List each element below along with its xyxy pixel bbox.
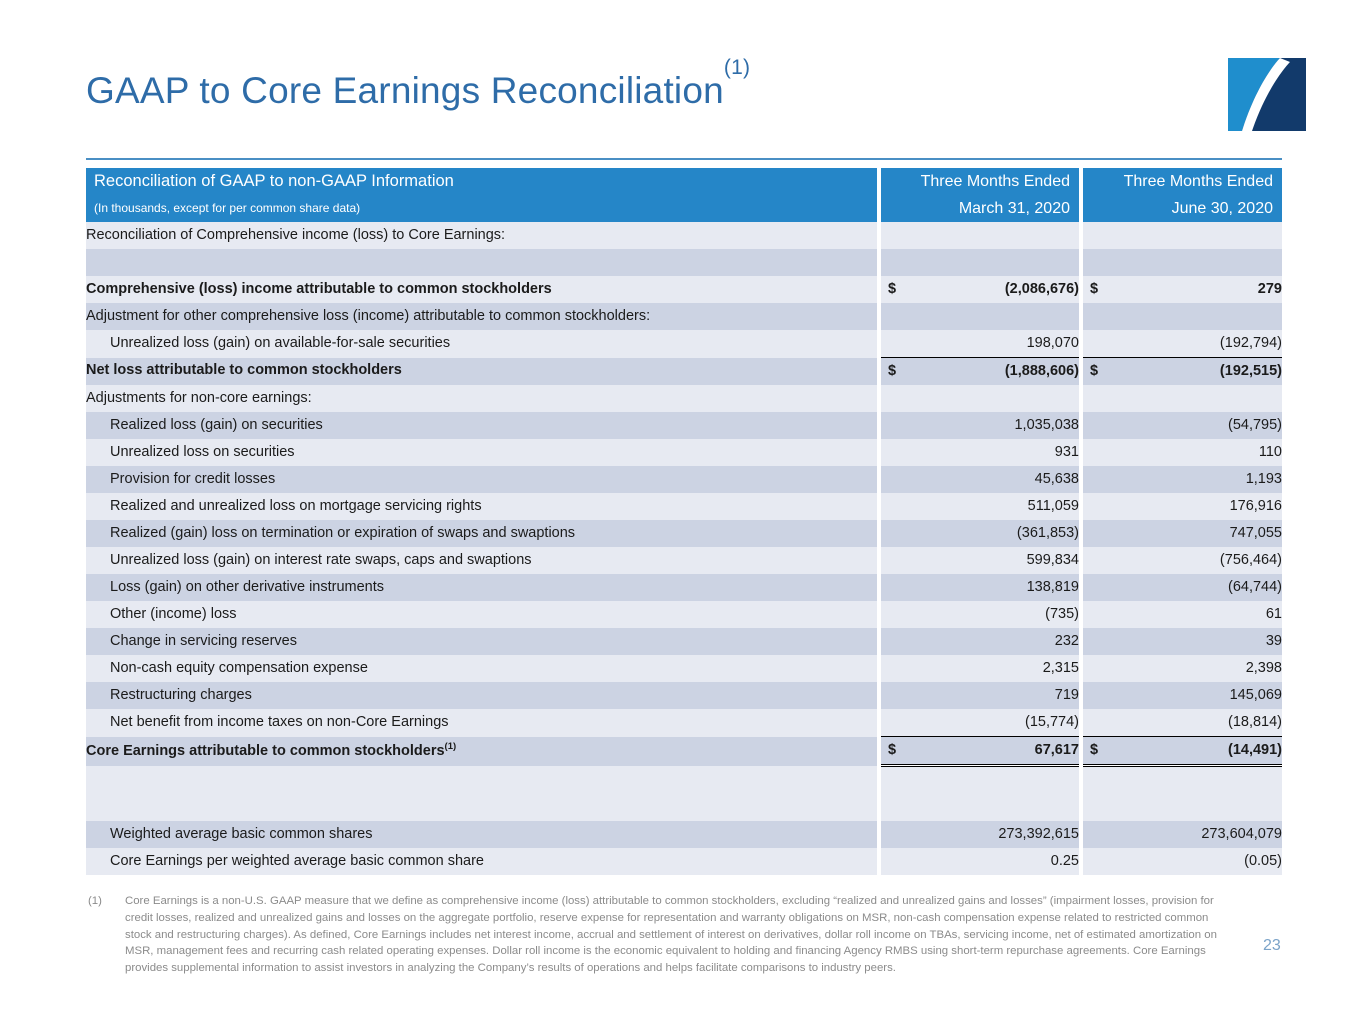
row-value-col2: (756,464)	[1083, 547, 1282, 574]
table-row: Realized loss (gain) on securities1,035,…	[86, 412, 1282, 439]
value-text: 2,315	[1043, 660, 1079, 676]
currency-symbol: $	[1090, 743, 1098, 759]
currency-symbol: $	[888, 282, 896, 298]
table-header-row-2: (In thousands, except for per common sha…	[86, 195, 1282, 222]
page-number: 23	[1263, 937, 1281, 955]
row-value-col1: 273,392,615	[881, 821, 1079, 848]
page-title: GAAP to Core Earnings Reconciliation(1)	[86, 70, 750, 112]
row-label	[86, 794, 877, 821]
table-header-row-1: Reconciliation of GAAP to non-GAAP Infor…	[86, 168, 1282, 195]
row-value-col1: $67,617	[881, 737, 1079, 766]
row-value-col1: (15,774)	[881, 709, 1079, 737]
table-row: Restructuring charges719145,069	[86, 682, 1282, 709]
row-label	[86, 249, 877, 276]
row-label: Unrealized loss (gain) on interest rate …	[86, 547, 877, 574]
row-value-col2: (64,744)	[1083, 574, 1282, 601]
row-label: Other (income) loss	[86, 601, 877, 628]
table-row: Other (income) loss(735)61	[86, 601, 1282, 628]
value-text: 145,069	[1230, 687, 1282, 703]
value-text: (18,814)	[1228, 714, 1282, 730]
row-value-col1: $(2,086,676)	[881, 276, 1079, 303]
table-row	[86, 766, 1282, 795]
currency-symbol: $	[1090, 282, 1098, 298]
row-label: Adjustment for other comprehensive loss …	[86, 303, 877, 330]
value-text: (192,794)	[1220, 335, 1282, 351]
row-value-col1: 138,819	[881, 574, 1079, 601]
row-label: Weighted average basic common shares	[86, 821, 877, 848]
row-label: Non-cash equity compensation expense	[86, 655, 877, 682]
table-row: Provision for credit losses45,6381,193	[86, 466, 1282, 493]
row-label: Realized loss (gain) on securities	[86, 412, 877, 439]
table-row: Comprehensive (loss) income attributable…	[86, 276, 1282, 303]
row-value-col2: 2,398	[1083, 655, 1282, 682]
value-text: 39	[1266, 633, 1282, 649]
row-value-col1: (735)	[881, 601, 1079, 628]
row-value-col2: 61	[1083, 601, 1282, 628]
reconciliation-table-container: Reconciliation of GAAP to non-GAAP Infor…	[86, 168, 1282, 875]
value-text: 599,834	[1027, 552, 1079, 568]
table-row: Core Earnings per weighted average basic…	[86, 848, 1282, 875]
row-value-col1: 232	[881, 628, 1079, 655]
table-header-units: (In thousands, except for per common sha…	[86, 195, 877, 222]
table-row: Weighted average basic common shares273,…	[86, 821, 1282, 848]
value-text: (361,853)	[1017, 525, 1079, 541]
currency-symbol: $	[888, 364, 896, 380]
value-text: (2,086,676)	[1005, 281, 1079, 297]
table-body: Reconciliation of GAAP to non-GAAP Infor…	[86, 168, 1282, 875]
table-row: Non-cash equity compensation expense2,31…	[86, 655, 1282, 682]
value-text: (0.05)	[1244, 853, 1282, 869]
table-row	[86, 794, 1282, 821]
value-text: 931	[1055, 444, 1079, 460]
column-1-header-line2: March 31, 2020	[881, 195, 1079, 222]
table-row: Net loss attributable to common stockhol…	[86, 358, 1282, 386]
row-value-col1: $(1,888,606)	[881, 358, 1079, 386]
row-label: Core Earnings per weighted average basic…	[86, 848, 877, 875]
row-value-col2: $(14,491)	[1083, 737, 1282, 766]
value-text: 747,055	[1230, 525, 1282, 541]
column-2-header-line2: June 30, 2020	[1083, 195, 1282, 222]
row-label: Comprehensive (loss) income attributable…	[86, 276, 877, 303]
currency-symbol: $	[1090, 364, 1098, 380]
value-text: (15,774)	[1025, 714, 1079, 730]
page-title-text: GAAP to Core Earnings Reconciliation	[86, 70, 724, 111]
value-text: (192,515)	[1220, 363, 1282, 379]
value-text: 1,035,038	[1014, 417, 1079, 433]
row-value-col2: (54,795)	[1083, 412, 1282, 439]
table-row: Loss (gain) on other derivative instrume…	[86, 574, 1282, 601]
row-value-col2	[1083, 385, 1282, 412]
value-text: 198,070	[1027, 335, 1079, 351]
table-row: Net benefit from income taxes on non-Cor…	[86, 709, 1282, 737]
value-text: 273,604,079	[1201, 826, 1282, 842]
row-value-col1: 931	[881, 439, 1079, 466]
row-value-col2: (192,794)	[1083, 330, 1282, 358]
value-text: (54,795)	[1228, 417, 1282, 433]
row-value-col2: 1,193	[1083, 466, 1282, 493]
value-text: (14,491)	[1228, 742, 1282, 758]
row-value-col2	[1083, 249, 1282, 276]
row-value-col2: $279	[1083, 276, 1282, 303]
currency-symbol: $	[888, 743, 896, 759]
row-value-col2	[1083, 766, 1282, 795]
table-row: Realized (gain) loss on termination or e…	[86, 520, 1282, 547]
table-row: Unrealized loss (gain) on available-for-…	[86, 330, 1282, 358]
value-text: 110	[1259, 444, 1282, 460]
value-text: (64,744)	[1228, 579, 1282, 595]
value-text: 0.25	[1051, 853, 1079, 869]
value-text: 1,193	[1246, 471, 1282, 487]
row-value-col2	[1083, 222, 1282, 249]
row-value-col1: 719	[881, 682, 1079, 709]
row-value-col1: 1,035,038	[881, 412, 1079, 439]
value-text: 511,059	[1028, 498, 1079, 514]
row-label: Realized (gain) loss on termination or e…	[86, 520, 877, 547]
row-value-col1	[881, 222, 1079, 249]
row-label: Reconciliation of Comprehensive income (…	[86, 222, 877, 249]
value-text: 279	[1258, 281, 1282, 297]
row-value-col2: 145,069	[1083, 682, 1282, 709]
value-text: 45,638	[1035, 471, 1079, 487]
row-value-col2: 39	[1083, 628, 1282, 655]
value-text: 2,398	[1246, 660, 1282, 676]
column-2-header-line1: Three Months Ended	[1083, 168, 1282, 195]
reconciliation-table: Reconciliation of GAAP to non-GAAP Infor…	[86, 168, 1282, 875]
row-value-col2: 273,604,079	[1083, 821, 1282, 848]
row-value-col2: 110	[1083, 439, 1282, 466]
row-label: Net loss attributable to common stockhol…	[86, 358, 877, 386]
row-value-col2: (0.05)	[1083, 848, 1282, 875]
row-value-col1: 511,059	[881, 493, 1079, 520]
row-value-col1	[881, 766, 1079, 795]
footnote-marker: (1)	[88, 893, 102, 910]
row-value-col1	[881, 794, 1079, 821]
row-label: Core Earnings attributable to common sto…	[86, 737, 877, 766]
value-text: 719	[1055, 687, 1079, 703]
row-label-superscript: (1)	[445, 741, 457, 752]
row-value-col1	[881, 249, 1079, 276]
table-row: Unrealized loss (gain) on interest rate …	[86, 547, 1282, 574]
row-label: Restructuring charges	[86, 682, 877, 709]
row-label: Realized and unrealized loss on mortgage…	[86, 493, 877, 520]
value-text: 67,617	[1035, 742, 1079, 758]
footnote-text: Core Earnings is a non-U.S. GAAP measure…	[88, 893, 1238, 977]
row-value-col1: 599,834	[881, 547, 1079, 574]
value-text: 138,819	[1027, 579, 1079, 595]
row-value-col2: 176,916	[1083, 493, 1282, 520]
row-value-col1	[881, 385, 1079, 412]
value-text: (735)	[1045, 606, 1079, 622]
row-value-col1: 198,070	[881, 330, 1079, 358]
value-text: (756,464)	[1220, 552, 1282, 568]
row-label: Unrealized loss (gain) on available-for-…	[86, 330, 877, 358]
table-row: Change in servicing reserves23239	[86, 628, 1282, 655]
title-divider	[86, 158, 1282, 160]
table-row: Core Earnings attributable to common sto…	[86, 737, 1282, 766]
row-value-col2: (18,814)	[1083, 709, 1282, 737]
row-label: Adjustments for non-core earnings:	[86, 385, 877, 412]
row-label: Unrealized loss on securities	[86, 439, 877, 466]
table-header-title: Reconciliation of GAAP to non-GAAP Infor…	[86, 168, 877, 195]
row-value-col1	[881, 303, 1079, 330]
table-row: Adjustment for other comprehensive loss …	[86, 303, 1282, 330]
row-value-col1: (361,853)	[881, 520, 1079, 547]
row-value-col2: 747,055	[1083, 520, 1282, 547]
value-text: (1,888,606)	[1005, 363, 1079, 379]
value-text: 232	[1055, 633, 1079, 649]
row-label: Change in servicing reserves	[86, 628, 877, 655]
company-logo-icon	[1228, 58, 1306, 131]
value-text: 176,916	[1230, 498, 1282, 514]
value-text: 61	[1266, 606, 1282, 622]
table-row	[86, 249, 1282, 276]
table-row: Adjustments for non-core earnings:	[86, 385, 1282, 412]
table-row: Reconciliation of Comprehensive income (…	[86, 222, 1282, 249]
page-title-superscript: (1)	[724, 56, 750, 79]
table-row: Realized and unrealized loss on mortgage…	[86, 493, 1282, 520]
row-label: Loss (gain) on other derivative instrume…	[86, 574, 877, 601]
footnote: (1) Core Earnings is a non-U.S. GAAP mea…	[88, 893, 1238, 977]
value-text: 273,392,615	[998, 826, 1079, 842]
row-value-col1: 0.25	[881, 848, 1079, 875]
row-value-col2: $(192,515)	[1083, 358, 1282, 386]
row-label: Net benefit from income taxes on non-Cor…	[86, 709, 877, 737]
table-row: Unrealized loss on securities931110	[86, 439, 1282, 466]
row-label	[86, 766, 877, 795]
row-value-col2	[1083, 794, 1282, 821]
row-value-col1: 2,315	[881, 655, 1079, 682]
column-1-header-line1: Three Months Ended	[881, 168, 1079, 195]
row-value-col2	[1083, 303, 1282, 330]
row-value-col1: 45,638	[881, 466, 1079, 493]
row-label: Provision for credit losses	[86, 466, 877, 493]
